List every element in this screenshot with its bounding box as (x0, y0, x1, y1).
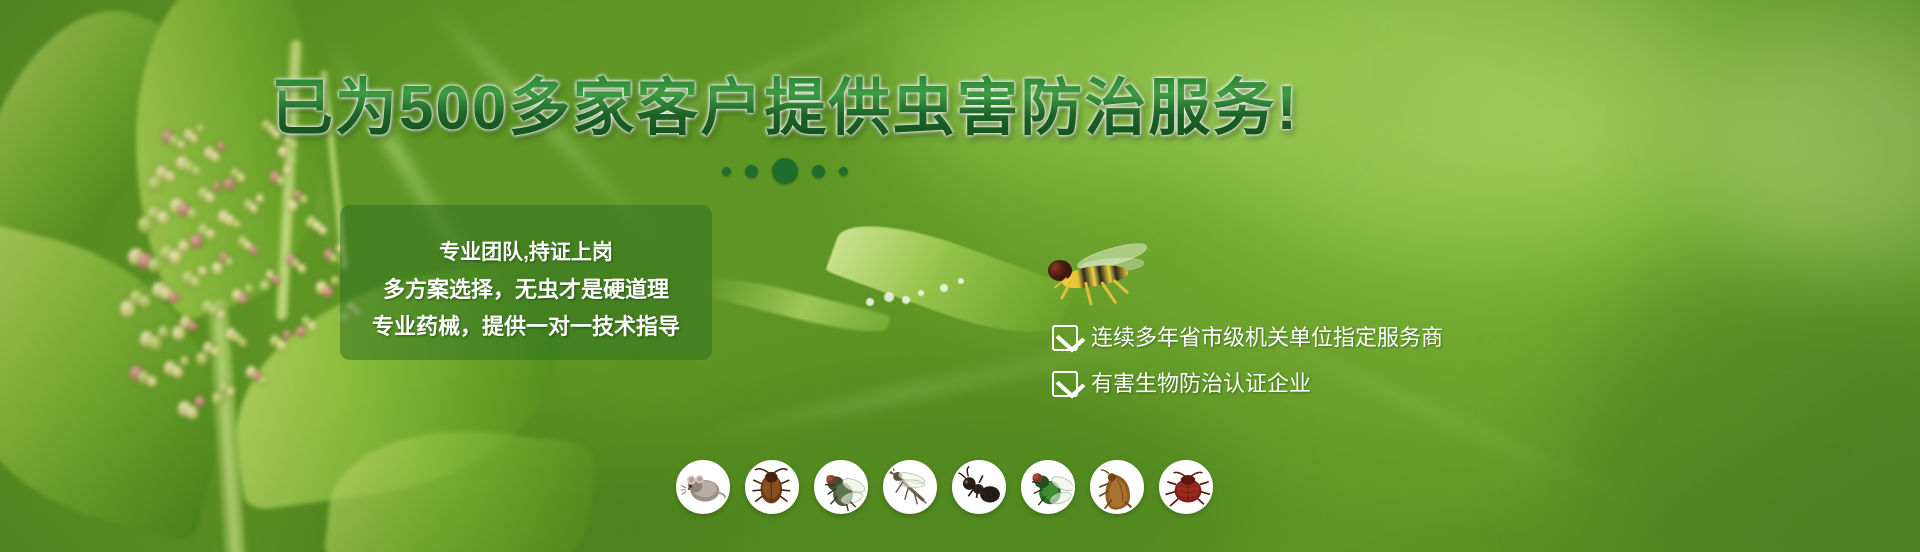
decorative-dot (839, 167, 848, 176)
credential-label: 有害生物防治认证企业 (1091, 371, 1311, 397)
page-title: 已为500多家客户提供虫害防治服务! (0, 74, 1570, 144)
decorative-dot (722, 167, 731, 176)
flower-bud (169, 292, 179, 303)
blowfly-icon[interactable] (1021, 460, 1075, 514)
flower-bud (139, 295, 151, 308)
flower-bud (283, 330, 291, 339)
flea-icon[interactable] (1090, 460, 1144, 514)
flower-bud (195, 396, 205, 407)
flower-bud (300, 195, 308, 204)
bedbug-icon[interactable] (1159, 460, 1213, 514)
pest-type-strip (676, 460, 1213, 514)
fly-leg (1112, 279, 1129, 295)
flower-bud (259, 376, 267, 385)
flower-bud (172, 366, 183, 378)
flower-bud (272, 275, 280, 284)
dew-drop (866, 298, 874, 306)
fly-eye (1050, 262, 1064, 278)
fly-leg (1100, 281, 1117, 304)
hoverfly-photo (1040, 246, 1160, 308)
flower-bud (239, 338, 247, 347)
decorative-dots (0, 158, 1570, 184)
credentials-list: 连续多年省市级机关单位指定服务商 有害生物防治认证企业 (1052, 325, 1443, 397)
features-panel: 专业团队,持证上岗 多方案选择，无虫才是硬道理 专业药械，提供一对一技术指导 (340, 205, 712, 360)
flower-bud (180, 356, 189, 366)
flower-bud (278, 146, 288, 157)
flower-bud (158, 326, 169, 338)
mouse-icon[interactable] (676, 460, 730, 514)
features-panel-line: 专业团队,持证上岗 (439, 241, 613, 265)
flower-bud (186, 406, 198, 419)
flower-bud (227, 387, 236, 396)
flower-bud (187, 208, 197, 219)
cockroach-icon[interactable] (745, 460, 799, 514)
flower-bud (250, 246, 258, 255)
flower-bud (190, 276, 201, 288)
flower-bud (212, 392, 224, 405)
checkbox-checked-icon (1052, 325, 1078, 351)
dew-drop (918, 290, 924, 296)
features-panel-line: 专业药械，提供一对一技术指导 (372, 315, 680, 339)
flower-bud (148, 258, 161, 272)
mosquito-icon[interactable] (883, 460, 937, 514)
flower-bud (169, 250, 182, 264)
dew-drop (884, 292, 894, 302)
flower-bud (308, 321, 316, 330)
flower-bud (149, 336, 162, 350)
flower-bud (206, 229, 215, 239)
credential-label: 连续多年省市级机关单位指定服务商 (1091, 325, 1443, 351)
flower-bud (172, 326, 185, 340)
decorative-dot (745, 165, 758, 178)
pest-control-promo-banner: 已为500多家客户提供虫害防治服务! 专业团队,持证上岗 多方案选择，无虫才是硬… (0, 0, 1920, 552)
features-panel-line: 多方案选择，无虫才是硬道理 (383, 278, 669, 302)
flower-bud (212, 262, 223, 274)
flower-bud (260, 280, 270, 291)
housefly-icon[interactable] (814, 460, 868, 514)
flower-bud (196, 352, 208, 365)
decorative-dot (772, 158, 798, 184)
flower-bud (330, 254, 338, 263)
dew-drop (958, 278, 964, 284)
flower-bud (245, 284, 253, 293)
flower-bud (296, 326, 306, 337)
ant-icon[interactable] (952, 460, 1006, 514)
flower-bud (188, 321, 197, 331)
flower-bud (147, 376, 157, 387)
decorative-dot (812, 165, 825, 178)
flower-bud (233, 220, 242, 229)
flower-bud (288, 200, 298, 211)
flower-bud (298, 264, 306, 273)
flower-bud (239, 294, 248, 304)
flower-bud (331, 276, 340, 285)
dew-drop (940, 284, 948, 292)
flower-bud (250, 204, 258, 213)
dew-drop (902, 296, 910, 304)
flower-bud (217, 310, 226, 319)
list-item: 连续多年省市级机关单位指定服务商 (1052, 325, 1443, 351)
flower-bud (190, 234, 203, 248)
flower-bud (157, 211, 169, 224)
list-item: 有害生物防治认证企业 (1052, 371, 1443, 397)
flower-bud (205, 192, 215, 203)
flower-bud (211, 347, 220, 356)
flower-bud (323, 286, 333, 297)
flower-bud (319, 226, 327, 235)
flower-bud (198, 266, 207, 276)
flower-bud (178, 240, 189, 252)
flower-bud (277, 340, 286, 350)
flower-bud (225, 257, 233, 266)
flower-bud (256, 194, 264, 203)
checkbox-checked-icon (1052, 371, 1078, 397)
